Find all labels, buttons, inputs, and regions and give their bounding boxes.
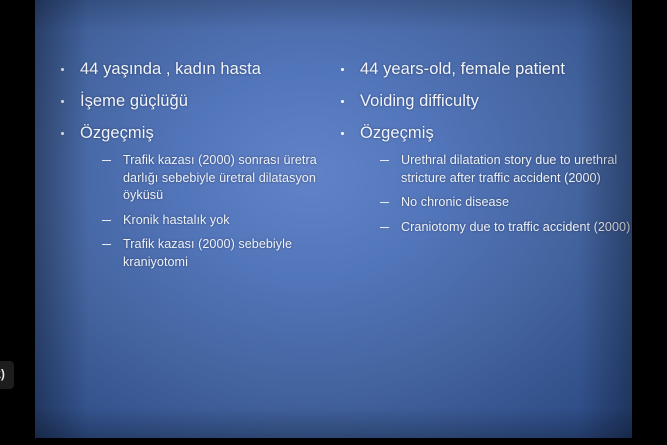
bullet-dot-icon xyxy=(341,132,344,135)
slide-body: 44 yaşında , kadın hasta İşeme güçlüğü Ö… xyxy=(35,58,632,280)
participant-name-badge: t (k) xyxy=(0,361,14,389)
left-bullet-complaint: İşeme güçlüğü xyxy=(55,90,322,113)
dash-bullet-icon xyxy=(102,220,111,221)
bullet-dot-icon xyxy=(61,100,64,103)
left-bullet-complaint-text: İşeme güçlüğü xyxy=(80,92,188,110)
bullet-dot-icon xyxy=(61,132,64,135)
bullet-dot-icon xyxy=(61,68,64,71)
right-sub-item-text: Urethral dilatation story due to urethra… xyxy=(401,153,617,185)
left-sub-item: Trafik kazası (2000) sonrası üretra darl… xyxy=(102,152,322,205)
right-bullet-complaint-text: Voiding difficulty xyxy=(360,92,479,110)
presentation-slide: 44 yaşında , kadın hasta İşeme güçlüğü Ö… xyxy=(35,0,632,438)
right-bullet-history: Özgeçmiş Urethral dilatation story due t… xyxy=(335,122,632,236)
right-sub-item-text: Craniotomy due to traffic accident (2000… xyxy=(401,220,630,234)
left-sub-item: Trafik kazası (2000) sebebiyle kraniyoto… xyxy=(102,236,322,271)
right-bullet-history-text: Özgeçmiş xyxy=(360,124,434,142)
right-sub-list: Urethral dilatation story due to urethra… xyxy=(360,152,632,236)
bullet-dot-icon xyxy=(341,100,344,103)
right-sub-item: Urethral dilatation story due to urethra… xyxy=(380,152,632,187)
right-bullet-complaint: Voiding difficulty xyxy=(335,90,632,113)
dash-bullet-icon xyxy=(380,160,389,161)
right-bullet-age: 44 years-old, female patient xyxy=(335,58,632,81)
right-bullet-list: 44 years-old, female patient Voiding dif… xyxy=(335,58,632,236)
right-sub-item-text: No chronic disease xyxy=(401,195,509,209)
dash-bullet-icon xyxy=(380,202,389,203)
left-bullet-history-text: Özgeçmiş xyxy=(80,124,154,142)
left-sub-item-text: Trafik kazası (2000) sebebiyle kraniyoto… xyxy=(123,237,292,269)
dash-bullet-icon xyxy=(102,160,111,161)
left-bullet-age-text: 44 yaşında , kadın hasta xyxy=(80,60,261,78)
right-sub-item: No chronic disease xyxy=(380,194,632,212)
left-sub-list: Trafik kazası (2000) sonrası üretra darl… xyxy=(80,152,322,271)
left-column: 44 yaşında , kadın hasta İşeme güçlüğü Ö… xyxy=(35,58,322,280)
right-sub-item: Craniotomy due to traffic accident (2000… xyxy=(380,219,632,237)
left-bullet-list: 44 yaşında , kadın hasta İşeme güçlüğü Ö… xyxy=(55,58,322,271)
right-bullet-age-text: 44 years-old, female patient xyxy=(360,60,565,78)
left-sub-item-text: Trafik kazası (2000) sonrası üretra darl… xyxy=(123,153,317,202)
left-bullet-age: 44 yaşında , kadın hasta xyxy=(55,58,322,81)
left-sub-item-text: Kronik hastalık yok xyxy=(123,213,230,227)
video-screen: 44 yaşında , kadın hasta İşeme güçlüğü Ö… xyxy=(0,0,667,445)
left-sub-item: Kronik hastalık yok xyxy=(102,212,322,230)
dash-bullet-icon xyxy=(380,227,389,228)
left-bullet-history: Özgeçmiş Trafik kazası (2000) sonrası ür… xyxy=(55,122,322,271)
participant-name-text: t (k) xyxy=(0,369,5,381)
bullet-dot-icon xyxy=(341,68,344,71)
right-column: 44 years-old, female patient Voiding dif… xyxy=(322,58,632,245)
dash-bullet-icon xyxy=(102,244,111,245)
